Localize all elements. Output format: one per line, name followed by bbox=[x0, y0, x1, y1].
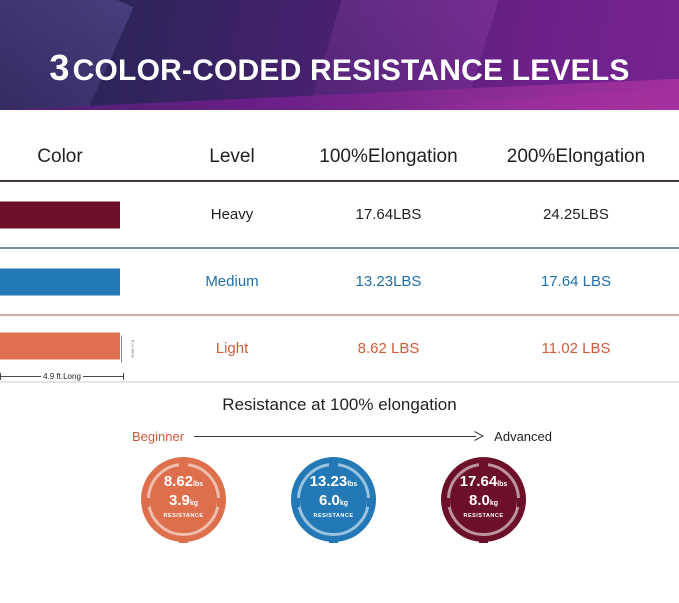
ring-gap bbox=[479, 462, 488, 469]
resistance-badge-light: 8.62lbs 3.9kg RESISTANCE bbox=[141, 457, 226, 542]
badge-lbs-line: 13.23lbs bbox=[291, 474, 376, 489]
badge-kg-line: 3.9kg bbox=[141, 493, 226, 508]
badge-lbs-unit: lbs bbox=[193, 481, 203, 488]
table-row: Heavy 17.64LBS 24.25LBS bbox=[0, 182, 679, 249]
table-row: 6 in.Wide 4.9 ft.Long Light 8.62 LBS 11.… bbox=[0, 316, 679, 383]
elongation-100-value: 8.62 LBS bbox=[296, 340, 481, 357]
badge-lbs-unit: lbs bbox=[347, 481, 357, 488]
column-header-color: Color bbox=[0, 146, 168, 168]
scale-end-label: Advanced bbox=[484, 429, 552, 444]
badge-caption: RESISTANCE bbox=[141, 514, 226, 520]
color-swatch-heavy bbox=[0, 201, 120, 228]
page-title-number: 3 bbox=[49, 47, 72, 88]
page-title: 3COLOR-CODED RESISTANCE LEVELS bbox=[0, 50, 679, 86]
swatch-wrap bbox=[0, 201, 120, 228]
table-row: Medium 13.23LBS 17.64 LBS bbox=[0, 249, 679, 316]
badge-kg-value: 6.0 bbox=[319, 492, 340, 509]
badge-lbs-line: 8.62lbs bbox=[141, 474, 226, 489]
header-banner: 3COLOR-CODED RESISTANCE LEVELS bbox=[0, 0, 679, 110]
resistance-badge-heavy: 17.64lbs 8.0kg RESISTANCE bbox=[441, 457, 526, 542]
level-label: Heavy bbox=[168, 206, 296, 223]
badge-kg-value: 8.0 bbox=[469, 492, 490, 509]
color-cell: 6 in.Wide 4.9 ft.Long bbox=[0, 316, 168, 381]
elongation-200-value: 17.64 LBS bbox=[481, 273, 671, 290]
column-header-level: Level bbox=[168, 146, 296, 168]
color-swatch-medium bbox=[0, 268, 120, 295]
width-dimension-label: 6 in.Wide bbox=[131, 339, 136, 357]
badge-lbs-line: 17.64lbs bbox=[441, 474, 526, 489]
color-swatch-light bbox=[0, 332, 120, 359]
swatch-wrap bbox=[0, 332, 120, 359]
resistance-badge-medium: 13.23lbs 6.0kg RESISTANCE bbox=[291, 457, 376, 542]
badge-lbs-value: 8.62 bbox=[164, 473, 193, 490]
swatch-wrap bbox=[0, 268, 120, 295]
table-header-row: Color Level 100%Elongation 200%Elongatio… bbox=[0, 110, 679, 182]
badge-lbs-unit: lbs bbox=[497, 481, 507, 488]
level-label: Light bbox=[168, 340, 296, 357]
ring-gap bbox=[479, 536, 488, 543]
scale-arrow-line bbox=[194, 436, 476, 437]
ring-gap bbox=[329, 536, 338, 543]
column-header-elongation-100: 100%Elongation bbox=[296, 146, 481, 168]
resistance-scale-section: Resistance at 100% elongation Beginner A… bbox=[0, 383, 679, 558]
column-header-elongation-200: 200%Elongation bbox=[481, 146, 671, 168]
length-dimension: 4.9 ft.Long bbox=[0, 371, 124, 383]
scale-arrow-head-icon bbox=[474, 431, 484, 441]
scale-start-label: Beginner bbox=[132, 429, 194, 444]
badge-content: 13.23lbs 6.0kg RESISTANCE bbox=[291, 474, 376, 520]
badge-kg-line: 6.0kg bbox=[291, 493, 376, 508]
elongation-100-value: 17.64LBS bbox=[296, 206, 481, 223]
length-dimension-label: 4.9 ft.Long bbox=[41, 372, 83, 381]
width-dimension-tick bbox=[121, 335, 122, 362]
elongation-100-value: 13.23LBS bbox=[296, 273, 481, 290]
progression-scale: Beginner Advanced bbox=[132, 427, 552, 445]
elongation-200-value: 11.02 LBS bbox=[481, 340, 671, 357]
ring-gap bbox=[179, 536, 188, 543]
badge-kg-unit: kg bbox=[340, 500, 348, 507]
scale-title: Resistance at 100% elongation bbox=[0, 395, 679, 415]
badge-lbs-value: 13.23 bbox=[310, 473, 348, 490]
badge-caption: RESISTANCE bbox=[441, 514, 526, 520]
badge-lbs-value: 17.64 bbox=[460, 473, 498, 490]
badge-kg-unit: kg bbox=[490, 500, 498, 507]
color-cell bbox=[0, 182, 168, 247]
level-label: Medium bbox=[168, 273, 296, 290]
badge-kg-line: 8.0kg bbox=[441, 493, 526, 508]
length-dimension-line-left bbox=[0, 376, 41, 377]
ring-gap bbox=[329, 462, 338, 469]
scale-arrow-icon bbox=[194, 431, 484, 441]
page-title-text: COLOR-CODED RESISTANCE LEVELS bbox=[73, 54, 630, 87]
resistance-table: Color Level 100%Elongation 200%Elongatio… bbox=[0, 110, 679, 383]
length-dimension-line-right bbox=[83, 376, 124, 377]
badge-content: 8.62lbs 3.9kg RESISTANCE bbox=[141, 474, 226, 520]
badge-kg-value: 3.9 bbox=[169, 492, 190, 509]
badge-kg-unit: kg bbox=[190, 500, 198, 507]
color-cell bbox=[0, 249, 168, 314]
ring-gap bbox=[179, 462, 188, 469]
elongation-200-value: 24.25LBS bbox=[481, 206, 671, 223]
resistance-badges: 8.62lbs 3.9kg RESISTANCE 13.23lbs 6.0kg … bbox=[0, 457, 679, 557]
badge-content: 17.64lbs 8.0kg RESISTANCE bbox=[441, 474, 526, 520]
badge-caption: RESISTANCE bbox=[291, 514, 376, 520]
